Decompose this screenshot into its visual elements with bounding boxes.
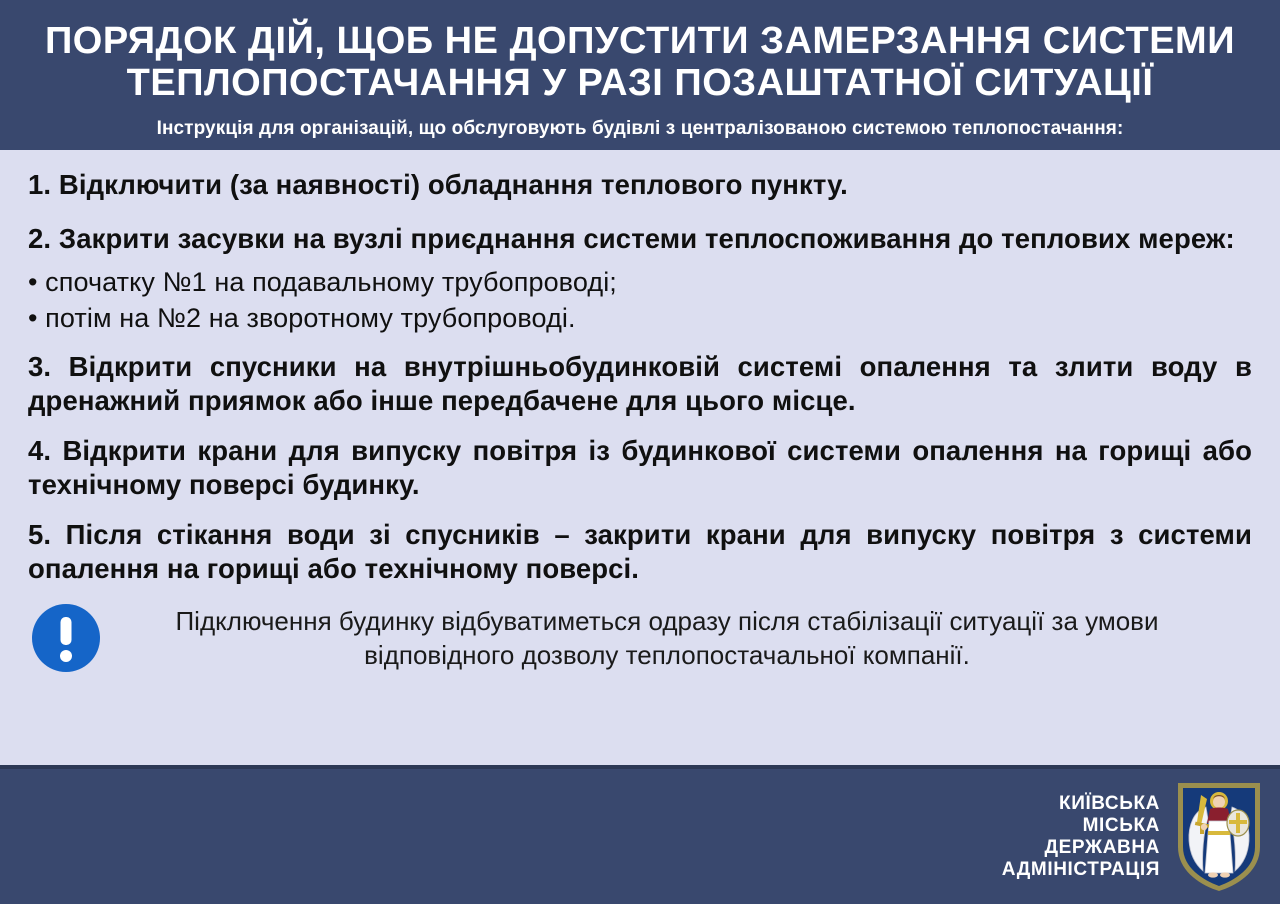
left-foot: [1208, 872, 1218, 877]
organization-name-line: ДЕРЖАВНА: [1002, 837, 1160, 859]
kyiv-coat-of-arms-icon: [1176, 781, 1262, 893]
step-item-5: 5. Після стікання води зі спусників – за…: [28, 518, 1252, 586]
shield-cross-horizontal: [1229, 820, 1247, 824]
poster-footer: КИЇВСЬКА МІСЬКА ДЕРЖАВНА АДМІНІСТРАЦІЯ: [0, 769, 1280, 904]
page-title: ПОРЯДОК ДІЙ, ЩОБ НЕ ДОПУСТИТИ ЗАМЕРЗАННЯ…: [24, 20, 1256, 104]
exclamation-dot: [60, 650, 72, 662]
head: [1213, 796, 1225, 808]
exclamation-icon: [32, 604, 100, 672]
substep-item: • потім на №2 на зворотному трубопроводі…: [28, 300, 1252, 336]
step-item-3: 3. Відкрити спусники на внутрішньобудинк…: [28, 350, 1252, 418]
belt: [1208, 831, 1230, 835]
poster-header: ПОРЯДОК ДІЙ, ЩОБ НЕ ДОПУСТИТИ ЗАМЕРЗАННЯ…: [0, 0, 1280, 150]
organization-name-line: КИЇВСЬКА: [1002, 793, 1160, 815]
substep-item: • спочатку №1 на подавальному трубопрово…: [28, 264, 1252, 300]
steps-container: 1. Відключити (за наявності) обладнання …: [0, 150, 1280, 765]
step-item-4: 4. Відкрити крани для випуску повітря із…: [28, 434, 1252, 502]
step-2-substeps: • спочатку №1 на подавальному трубопрово…: [28, 264, 1252, 336]
step-item-2: 2. Закрити засувки на вузлі приєднання с…: [28, 222, 1252, 256]
organization-name: КИЇВСЬКА МІСЬКА ДЕРЖАВНА АДМІНІСТРАЦІЯ: [1002, 793, 1160, 881]
step-item-1: 1. Відключити (за наявності) обладнання …: [28, 168, 1252, 202]
header-subtitle: Інструкція для організацій, що обслугову…: [157, 118, 1124, 140]
sword-hand: [1201, 823, 1207, 829]
organization-name-line: АДМІНІСТРАЦІЯ: [1002, 859, 1160, 881]
note-text: Підключення будинку відбуватиметься одра…: [122, 604, 1212, 672]
right-foot: [1220, 872, 1230, 877]
organization-name-line: МІСЬКА: [1002, 815, 1160, 837]
note-block: Підключення будинку відбуватиметься одра…: [28, 604, 1252, 672]
infographic-poster: ПОРЯДОК ДІЙ, ЩОБ НЕ ДОПУСТИТИ ЗАМЕРЗАННЯ…: [0, 0, 1280, 904]
exclamation-bar: [61, 617, 72, 645]
